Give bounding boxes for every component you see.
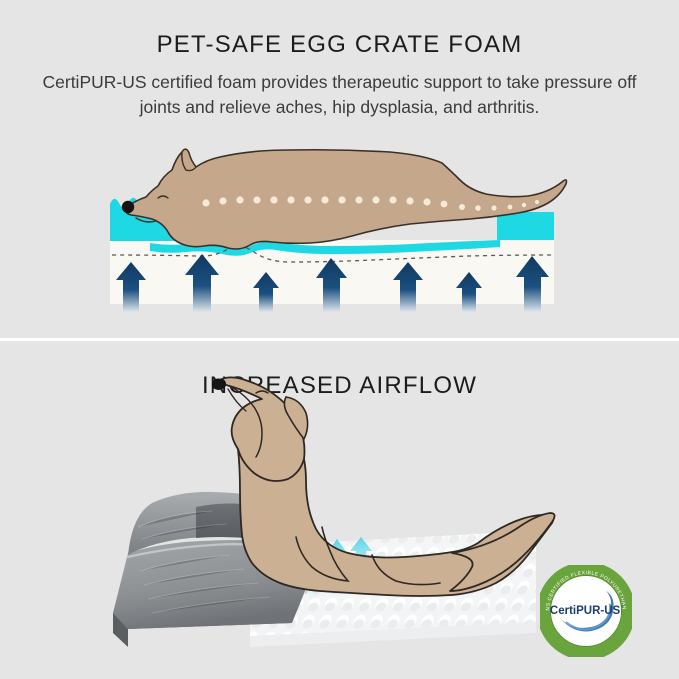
certipur-us-seal: CONTAINS CERTIFIED FLEXIBLE POLYURETHANE…	[540, 565, 632, 657]
dog-ear	[182, 149, 196, 170]
seal-center-text: CertiPUR-US	[550, 605, 621, 617]
dog-nose	[122, 201, 134, 213]
seal-trademark: ®	[621, 605, 624, 609]
panel-increased-airflow: INCREASED AIRFLOW	[0, 341, 679, 679]
egg-crate-layer-right	[497, 212, 554, 240]
dog-nose	[212, 379, 226, 391]
panel-egg-crate-foam: PET-SAFE EGG CRATE FOAM CertiPUR-US cert…	[0, 0, 679, 338]
illustration-dog-on-foam-cross-section	[0, 0, 679, 338]
